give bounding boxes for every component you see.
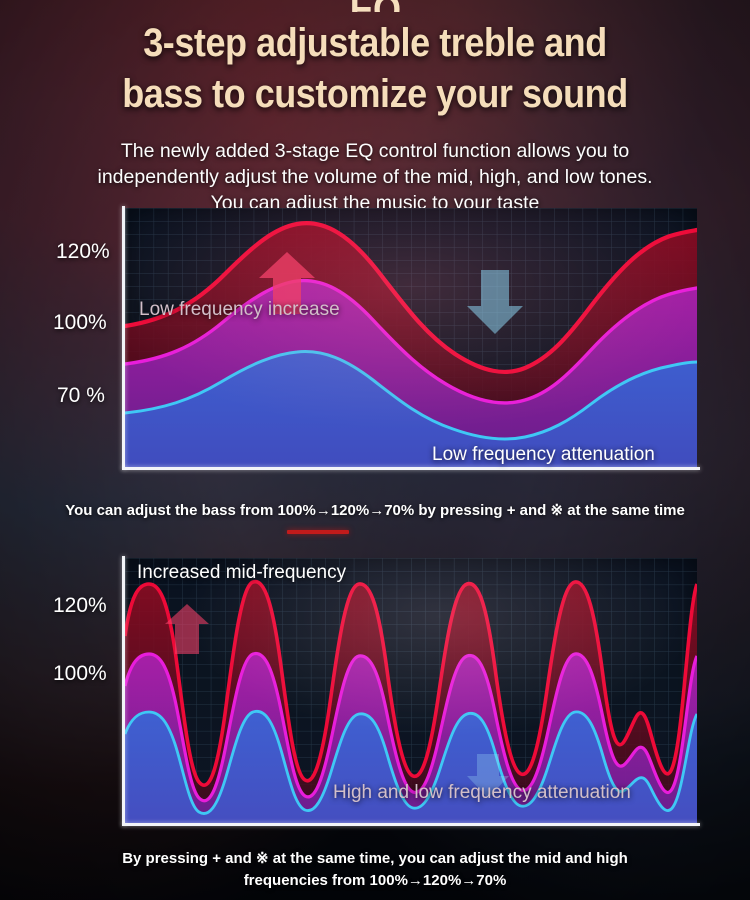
- mid-annotation-increase: Increased mid-frequency: [137, 562, 346, 584]
- mid-chart-y-axis: [122, 556, 125, 826]
- promo-page: EQ 3-step adjustable treble and bass to …: [0, 0, 750, 900]
- mid-ytick-100: 100%: [53, 662, 107, 686]
- mid-caption: By pressing + and ※ at the same time, yo…: [30, 848, 720, 892]
- mid-annotation-attenuation: High and low frequency attenuation: [333, 782, 631, 804]
- mid-chart-section: 120% 100% Increased mid-frequency High a…: [0, 0, 750, 900]
- mid-caption-line1: By pressing + and ※ at the same time, yo…: [30, 848, 720, 870]
- mid-caption-line2: frequencies from 100%→120%→70%: [30, 870, 720, 892]
- mid-ytick-120: 120%: [53, 594, 107, 618]
- mid-chart-x-axis: [122, 823, 700, 826]
